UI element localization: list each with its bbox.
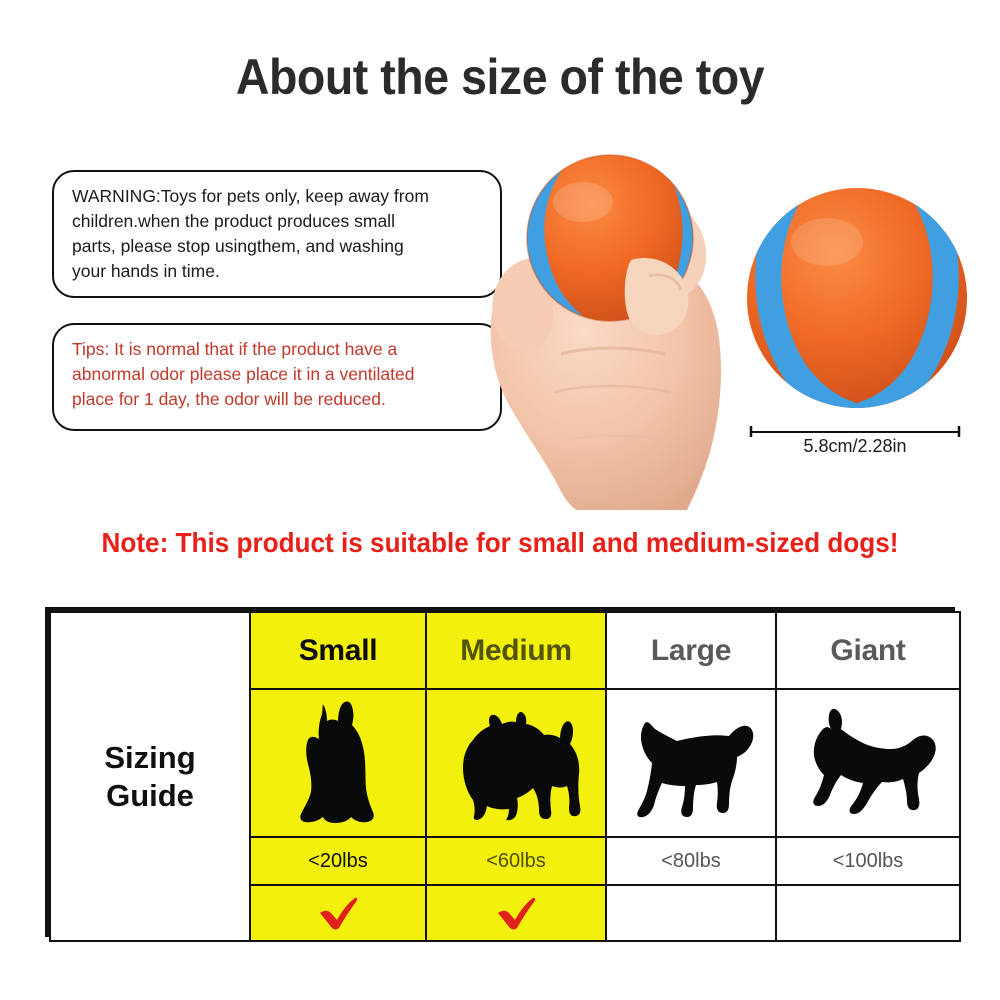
header-cell-medium: Medium — [426, 612, 606, 689]
silhouette-cell-small — [250, 689, 426, 837]
weight-label-medium: <60lbs — [486, 850, 546, 872]
tips-line-3: place for 1 day, the odor will be reduce… — [72, 387, 484, 412]
checkmark-icon-small — [316, 896, 360, 930]
check-cell-small — [250, 885, 426, 941]
header-label-giant: Giant — [830, 634, 905, 667]
header-label-large: Large — [651, 634, 731, 667]
sizing-guide-label-cell: Sizing Guide — [50, 612, 250, 941]
silhouette-cell-large — [606, 689, 776, 837]
header-cell-giant: Giant — [776, 612, 960, 689]
weight-label-small: <20lbs — [308, 850, 368, 872]
weight-label-giant: <100lbs — [833, 850, 904, 872]
trotting-retriever-silhouette — [793, 701, 943, 825]
standing-pomeranian-silhouette — [449, 704, 583, 822]
dimension-label: 5.8cm/2.28in — [748, 436, 962, 457]
check-cell-medium — [426, 885, 606, 941]
warning-line-4: your hands in time. — [72, 259, 484, 284]
sizing-guide-label-line-2: Guide — [51, 777, 249, 815]
warning-line-2: children.when the product produces small — [72, 209, 484, 234]
weight-cell-small: <20lbs — [250, 837, 426, 885]
weight-cell-medium: <60lbs — [426, 837, 606, 885]
infographic-root: About the size of the toy WARNING:Toys f… — [0, 0, 1000, 1000]
sitting-bulldog-silhouette — [278, 700, 398, 826]
weight-cell-large: <80lbs — [606, 837, 776, 885]
check-cell-giant — [776, 885, 960, 941]
tips-line-1: Tips: It is normal that if the product h… — [72, 337, 484, 362]
header-cell-large: Large — [606, 612, 776, 689]
tips-line-2: abnormal odor please place it in a venti… — [72, 362, 484, 387]
page-title: About the size of the toy — [35, 48, 965, 106]
orange-blue-ball-photo — [745, 180, 970, 415]
header-cell-small: Small — [250, 612, 426, 689]
sizing-guide-label-line-1: Sizing — [51, 739, 249, 777]
weight-label-large: <80lbs — [661, 850, 721, 872]
warning-line-1: WARNING:Toys for pets only, keep away fr… — [72, 184, 484, 209]
checkmark-icon-medium — [494, 896, 538, 930]
header-label-small: Small — [299, 634, 378, 667]
product-note: Note: This product is suitable for small… — [25, 527, 975, 559]
sizing-guide-table: Sizing Guide Small Medium Large Giant — [45, 607, 955, 937]
header-label-medium: Medium — [460, 634, 572, 667]
standing-beagle-silhouette — [621, 703, 761, 823]
weight-cell-giant: <100lbs — [776, 837, 960, 885]
silhouette-cell-giant — [776, 689, 960, 837]
table-row-headers: Sizing Guide Small Medium Large Giant — [50, 612, 960, 689]
warning-line-3: parts, please stop usingthem, and washin… — [72, 234, 484, 259]
hand-holding-ball-photo — [435, 140, 755, 510]
silhouette-cell-medium — [426, 689, 606, 837]
check-cell-large — [606, 885, 776, 941]
